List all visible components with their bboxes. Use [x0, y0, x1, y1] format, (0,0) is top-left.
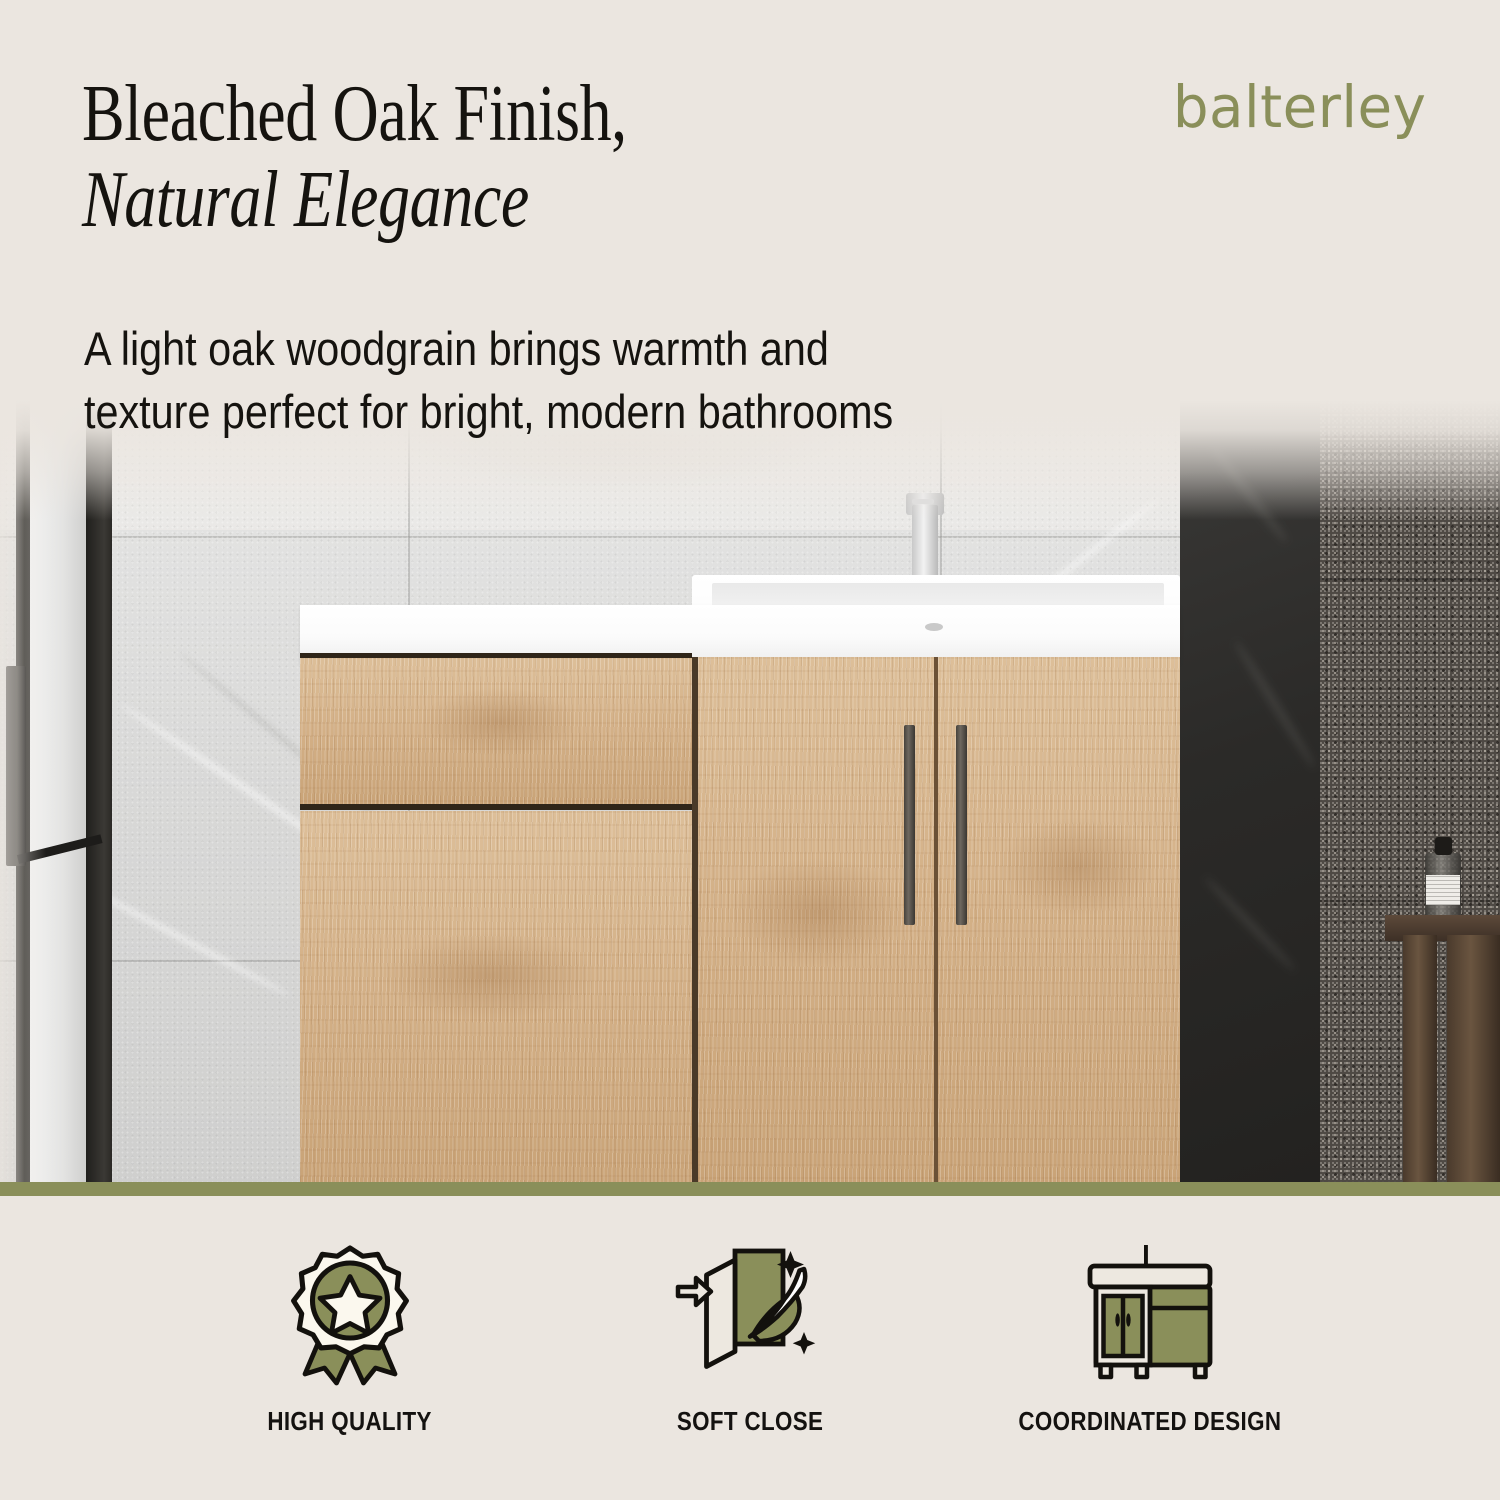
bathroom-scene — [0, 400, 1500, 1182]
drawer-gap — [300, 804, 692, 810]
feature-soft-close: SOFT CLOSE — [550, 1242, 950, 1437]
product-photo — [0, 400, 1500, 1182]
brand-logo: balterley — [1172, 78, 1426, 136]
vanity-unit-icon — [1075, 1242, 1225, 1392]
subtitle-line-2: texture perfect for bright, modern bathr… — [84, 385, 893, 438]
shower-enclosure — [0, 400, 112, 1182]
grout-line — [1320, 578, 1500, 580]
grout-line — [1320, 900, 1500, 902]
feature-label: SOFT CLOSE — [677, 1406, 823, 1437]
feature-strip: HIGH QUALITY SOFT CLOSE — [0, 1196, 1500, 1500]
side-table-leg — [1447, 935, 1500, 1182]
drawer-front-bottom — [300, 811, 692, 1182]
cabinet-door-left — [698, 657, 934, 1182]
headline-line-1: Bleached Oak Finish, — [82, 70, 627, 158]
soap-bottle-label — [1426, 875, 1460, 905]
feature-coordinated-design: COORDINATED DESIGN — [950, 1242, 1350, 1437]
feature-high-quality: HIGH QUALITY — [150, 1242, 550, 1437]
tap-lever — [912, 499, 934, 504]
drawer-gap — [300, 653, 692, 658]
dark-slate-wall — [1180, 400, 1320, 1182]
award-rosette-icon — [275, 1242, 425, 1392]
cabinet-handle-right — [956, 725, 967, 925]
headline-line-2: Natural Elegance — [82, 160, 882, 242]
shower-handle — [6, 666, 26, 866]
drawer-front-top — [300, 657, 692, 807]
door-gap — [934, 657, 938, 1182]
unit-gap — [692, 657, 698, 1182]
page-title: Bleached Oak Finish, Natural Elegance — [82, 74, 882, 241]
door-feather-soft-close-icon — [675, 1242, 825, 1392]
product-banner: Bleached Oak Finish, Natural Elegance A … — [0, 0, 1500, 1500]
cabinet-door-right — [938, 657, 1180, 1182]
basin-drain — [925, 623, 943, 631]
feature-label: HIGH QUALITY — [268, 1406, 432, 1437]
subtitle-line-1: A light oak woodgrain brings warmth and — [84, 322, 829, 375]
side-table-leg — [1403, 935, 1437, 1182]
side-table — [1385, 915, 1500, 1182]
feature-label: COORDINATED DESIGN — [1019, 1406, 1282, 1437]
shower-glass — [30, 400, 86, 1182]
cabinet-handle-left — [904, 725, 915, 925]
page-subtitle: A light oak woodgrain brings warmth and … — [84, 318, 1105, 443]
vanity-unit — [300, 605, 1180, 1182]
soap-bottle-cap — [1435, 837, 1452, 855]
section-divider — [0, 1182, 1500, 1196]
shower-shadow — [86, 400, 112, 1182]
